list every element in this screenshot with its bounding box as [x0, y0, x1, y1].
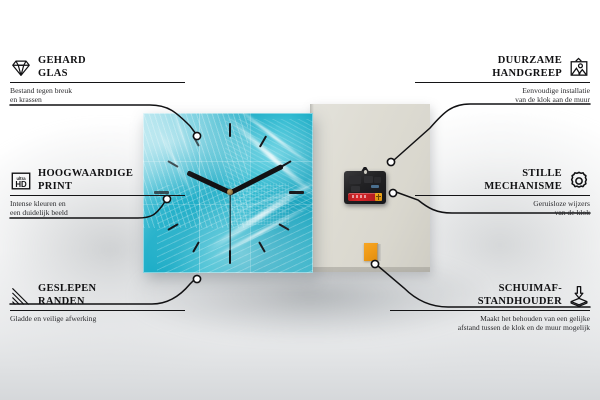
movement-detail [351, 186, 360, 192]
callout-silent-mechanism: STILLE MECHANISME Geruisloze wijzers van… [415, 168, 590, 218]
callout-foam-spacer: SCHUIMAF- STANDHOUDER Maakt het behouden… [390, 283, 590, 333]
callout-header: STILLE MECHANISME [415, 168, 590, 193]
battery-plus-terminal [375, 193, 382, 201]
product-infographic: GEHARD GLAS Bestand tegen breuk en krass… [0, 0, 600, 400]
callout-header: SCHUIMAF- STANDHOUDER [390, 283, 590, 308]
callout-description: Intense kleuren en een duidelijk beeld [10, 199, 185, 218]
press-down-pad-icon [568, 285, 590, 307]
callout-rule [10, 82, 185, 83]
movement-detail [349, 176, 361, 184]
callout-title-line1: SCHUIMAF- [390, 283, 562, 296]
movement-detail [364, 176, 373, 183]
callout-header: DUURZAME HANDGREEP [415, 55, 590, 80]
callout-description: Maakt het behouden van een gelijke afsta… [390, 314, 590, 333]
picture-frame-icon [568, 57, 590, 79]
callout-title-line1: DUURZAME [492, 55, 562, 68]
callout-description: Gladde en veilige afwerking [10, 314, 185, 324]
foam-spacer [364, 243, 381, 261]
callout-rule [10, 195, 185, 196]
callout-hq-print: ultra HD HOOGWAARDIGE PRINT Intense kleu… [10, 168, 185, 218]
callout-title-line1: HOOGWAARDIGE [38, 168, 133, 181]
callout-rule [415, 82, 590, 83]
callout-title-line2: HANDGREEP [492, 68, 562, 81]
movement-hanger-hole [364, 170, 367, 174]
foam-spacer-face [364, 243, 378, 261]
callout-toughened-glass: GEHARD GLAS Bestand tegen breuk en krass… [10, 55, 185, 105]
callout-title-line2: GLAS [38, 68, 86, 81]
callout-header: GESLEPEN RANDEN [10, 283, 185, 308]
callout-header: ultra HD HOOGWAARDIGE PRINT [10, 168, 185, 193]
callout-title-line2: MECHANISME [484, 181, 562, 194]
callout-title-line2: STANDHOUDER [390, 296, 562, 309]
callout-title-line1: GESLEPEN [38, 283, 96, 296]
callout-header: GEHARD GLAS [10, 55, 185, 80]
battery-label [352, 195, 368, 198]
callout-rule [415, 195, 590, 196]
callout-description: Bestand tegen breuk en krassen [10, 86, 185, 105]
callout-durable-hanger: DUURZAME HANDGREEP Eenvoudige installati… [415, 55, 590, 105]
callout-description: Geruisloze wijzers van de klok [415, 199, 590, 218]
callout-title-line1: STILLE [484, 168, 562, 181]
callout-description: Eenvoudige installatie van de klok aan d… [415, 86, 590, 105]
diamond-icon [10, 57, 32, 79]
callout-rule [390, 310, 590, 311]
gear-icon [568, 170, 590, 192]
movement-detail [374, 177, 381, 183]
callout-ground-edges: GESLEPEN RANDEN Gladde en veilige afwerk… [10, 283, 185, 323]
callout-rule [10, 310, 185, 311]
callout-title-line1: GEHARD [38, 55, 86, 68]
callout-title-line2: RANDEN [38, 296, 96, 309]
callout-title-line2: PRINT [38, 181, 133, 194]
wall-panel-edge-bottom [310, 267, 430, 272]
movement-terminal [371, 185, 379, 188]
ultra-hd-icon: ultra HD [10, 170, 32, 192]
ultra-hd-icon-bottom-label: HD [15, 179, 27, 188]
quartz-movement [344, 167, 386, 207]
foam-spacer-side [377, 244, 381, 261]
bevelled-edges-icon [10, 285, 32, 307]
